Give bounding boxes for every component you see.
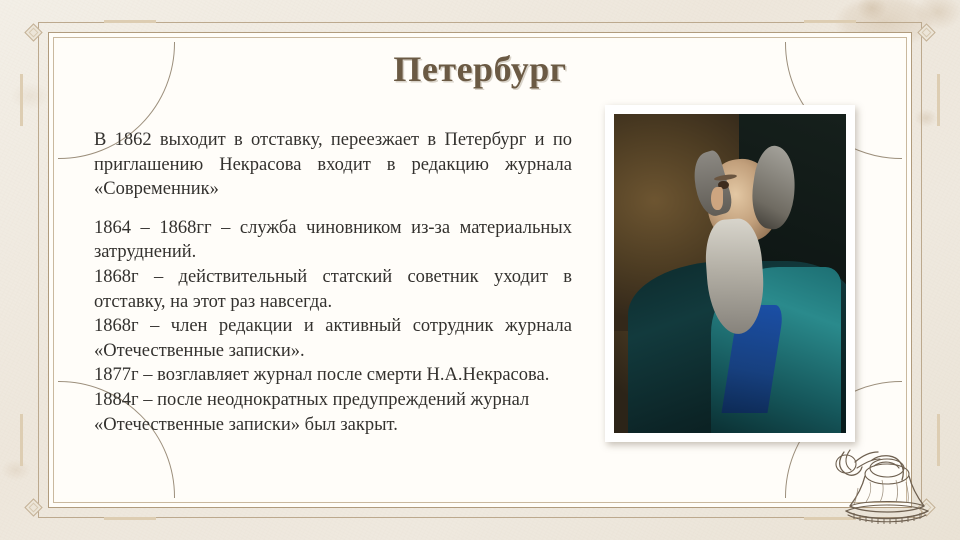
- frame-tab-right-top: [937, 74, 940, 126]
- slide: Петербург В 1862 выходит в отставку, пер…: [0, 0, 960, 540]
- list-item: 1884г – после неоднократных предупрежден…: [94, 388, 572, 437]
- portrait-nose: [711, 187, 723, 209]
- frame-tab-top-left: [104, 20, 156, 23]
- frame-tab-top-right: [804, 20, 856, 23]
- body-text: В 1862 выходит в отставку, переезжает в …: [94, 128, 572, 437]
- paragraph-intro: В 1862 выходит в отставку, переезжает в …: [94, 128, 572, 202]
- frame-tab-left-bottom: [20, 414, 23, 466]
- portrait-image: [614, 114, 846, 433]
- list-item: 1868г – действительный статский советник…: [94, 265, 572, 314]
- list-item: 1877г – возглавляет журнал после смерти …: [94, 363, 572, 388]
- frame-tab-left-top: [20, 74, 23, 126]
- paragraph-list: 1864 – 1868гг – служба чиновником из-за …: [94, 216, 572, 437]
- list-item: 1868г – член редакции и активный сотрудн…: [94, 314, 572, 363]
- page-title: Петербург: [58, 48, 902, 90]
- list-item: 1864 – 1868гг – служба чиновником из-за …: [94, 216, 572, 265]
- frame-tab-bottom-left: [104, 517, 156, 520]
- bell-engraving-icon: [808, 416, 946, 534]
- portrait-photo: [605, 105, 855, 442]
